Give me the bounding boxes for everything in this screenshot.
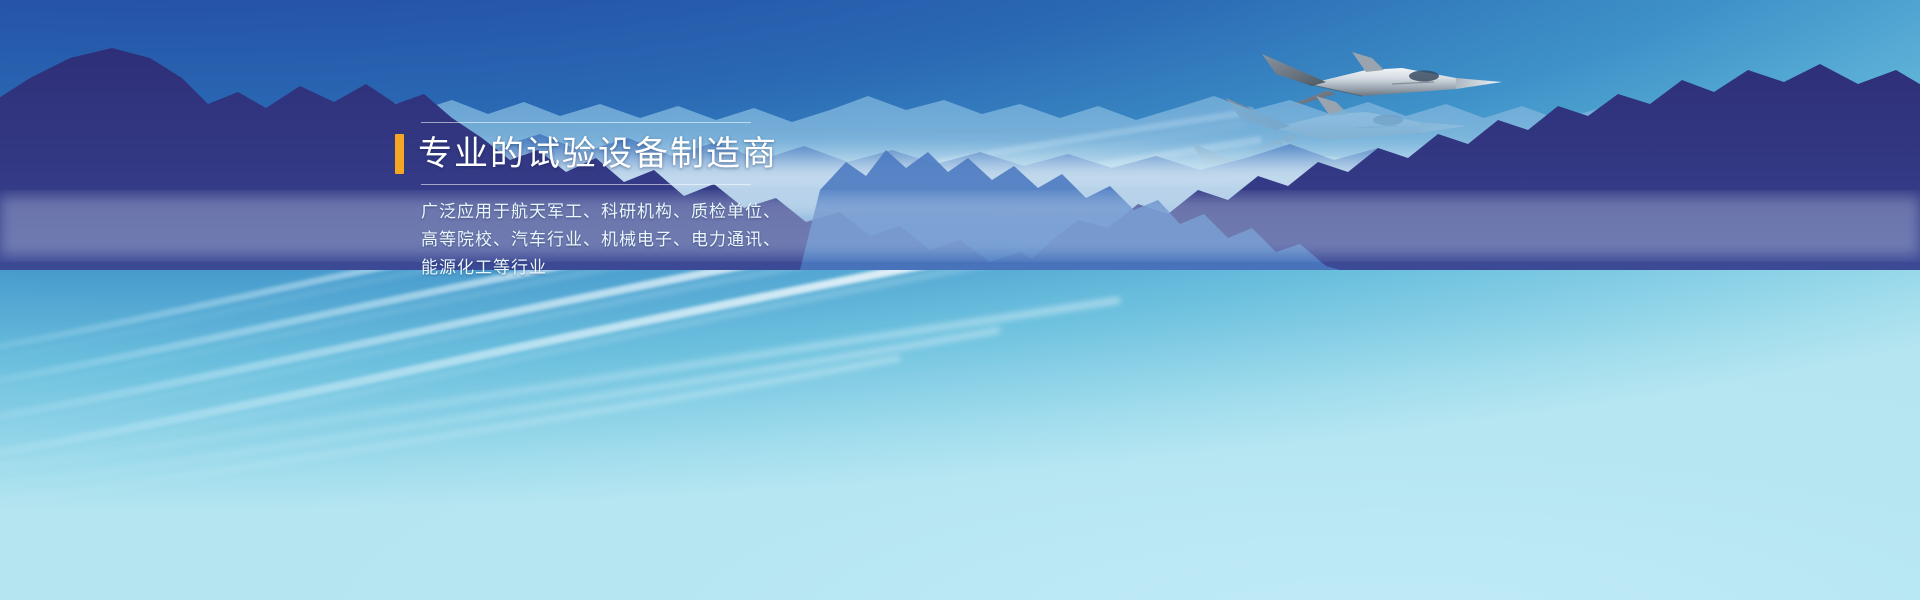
subtitle-line: 高等院校、汽车行业、机械电子、电力通讯、 bbox=[421, 226, 815, 254]
subtitle-line: 广泛应用于航天军工、科研机构、质检单位、 bbox=[421, 198, 815, 226]
banner-copy: 专业的试验设备制造商 广泛应用于航天军工、科研机构、质检单位、 高等院校、汽车行… bbox=[395, 122, 815, 282]
page-title: 专业的试验设备制造商 bbox=[418, 134, 778, 174]
mountain-range bbox=[0, 0, 1920, 270]
headline-rule-top bbox=[421, 122, 751, 123]
subtitle-line: 能源化工等行业 bbox=[421, 254, 815, 282]
hero-banner: 专业的试验设备制造商 广泛应用于航天军工、科研机构、质检单位、 高等院校、汽车行… bbox=[0, 0, 1920, 600]
headline-row: 专业的试验设备制造商 bbox=[395, 128, 815, 180]
accent-bar bbox=[395, 134, 404, 174]
subtitle-block: 广泛应用于航天军工、科研机构、质检单位、 高等院校、汽车行业、机械电子、电力通讯… bbox=[421, 198, 815, 282]
headline-rule-bottom bbox=[421, 184, 751, 185]
